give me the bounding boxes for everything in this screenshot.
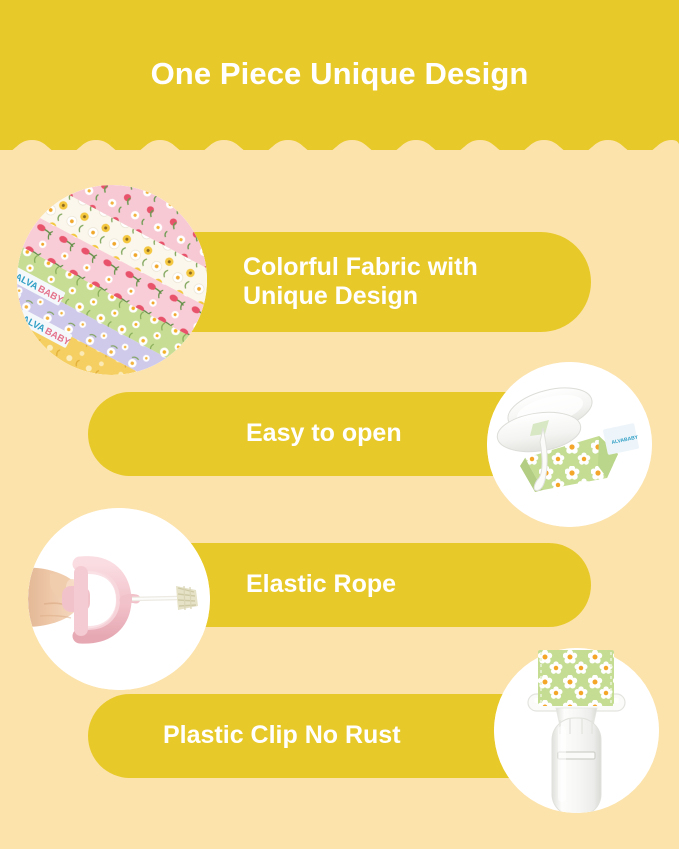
svg-text:BABY: BABY bbox=[17, 326, 25, 349]
elastic-rope-illustration bbox=[28, 508, 210, 690]
infographic-page: One Piece Unique Design Colorful Fabric … bbox=[0, 0, 679, 849]
floral-fabric-strips-illustration: ALVA BABY ALVA BABY ALVA BABY bbox=[17, 185, 207, 375]
feature-label-plastic-clip: Plastic Clip No Rust bbox=[163, 721, 401, 751]
feature-label-easy-to-open: Easy to open bbox=[246, 419, 402, 449]
feature-label-line-2: Unique Design bbox=[243, 282, 478, 312]
elastic-rope-photo bbox=[28, 508, 210, 690]
feature-label-elastic-rope: Elastic Rope bbox=[246, 570, 396, 600]
green-daisy-fabric-illustration bbox=[538, 650, 614, 706]
floral-fabric-strips-photo: ALVA BABY ALVA BABY ALVA BABY bbox=[17, 185, 207, 375]
feature-label-colorful-fabric: Colorful Fabric with Unique Design bbox=[243, 253, 478, 312]
green-daisy-fabric-tab bbox=[538, 650, 614, 706]
wave-divider-icon bbox=[0, 140, 679, 170]
clip-body bbox=[552, 718, 601, 813]
open-clip-photo: ALVABABY bbox=[487, 362, 652, 527]
feature-label-line-1: Colorful Fabric with bbox=[243, 253, 478, 283]
plastic-clip-photo-wrap bbox=[494, 648, 659, 828]
open-clip-illustration: ALVABABY bbox=[487, 362, 652, 527]
page-title: One Piece Unique Design bbox=[0, 54, 679, 94]
header-banner: One Piece Unique Design bbox=[0, 0, 679, 170]
